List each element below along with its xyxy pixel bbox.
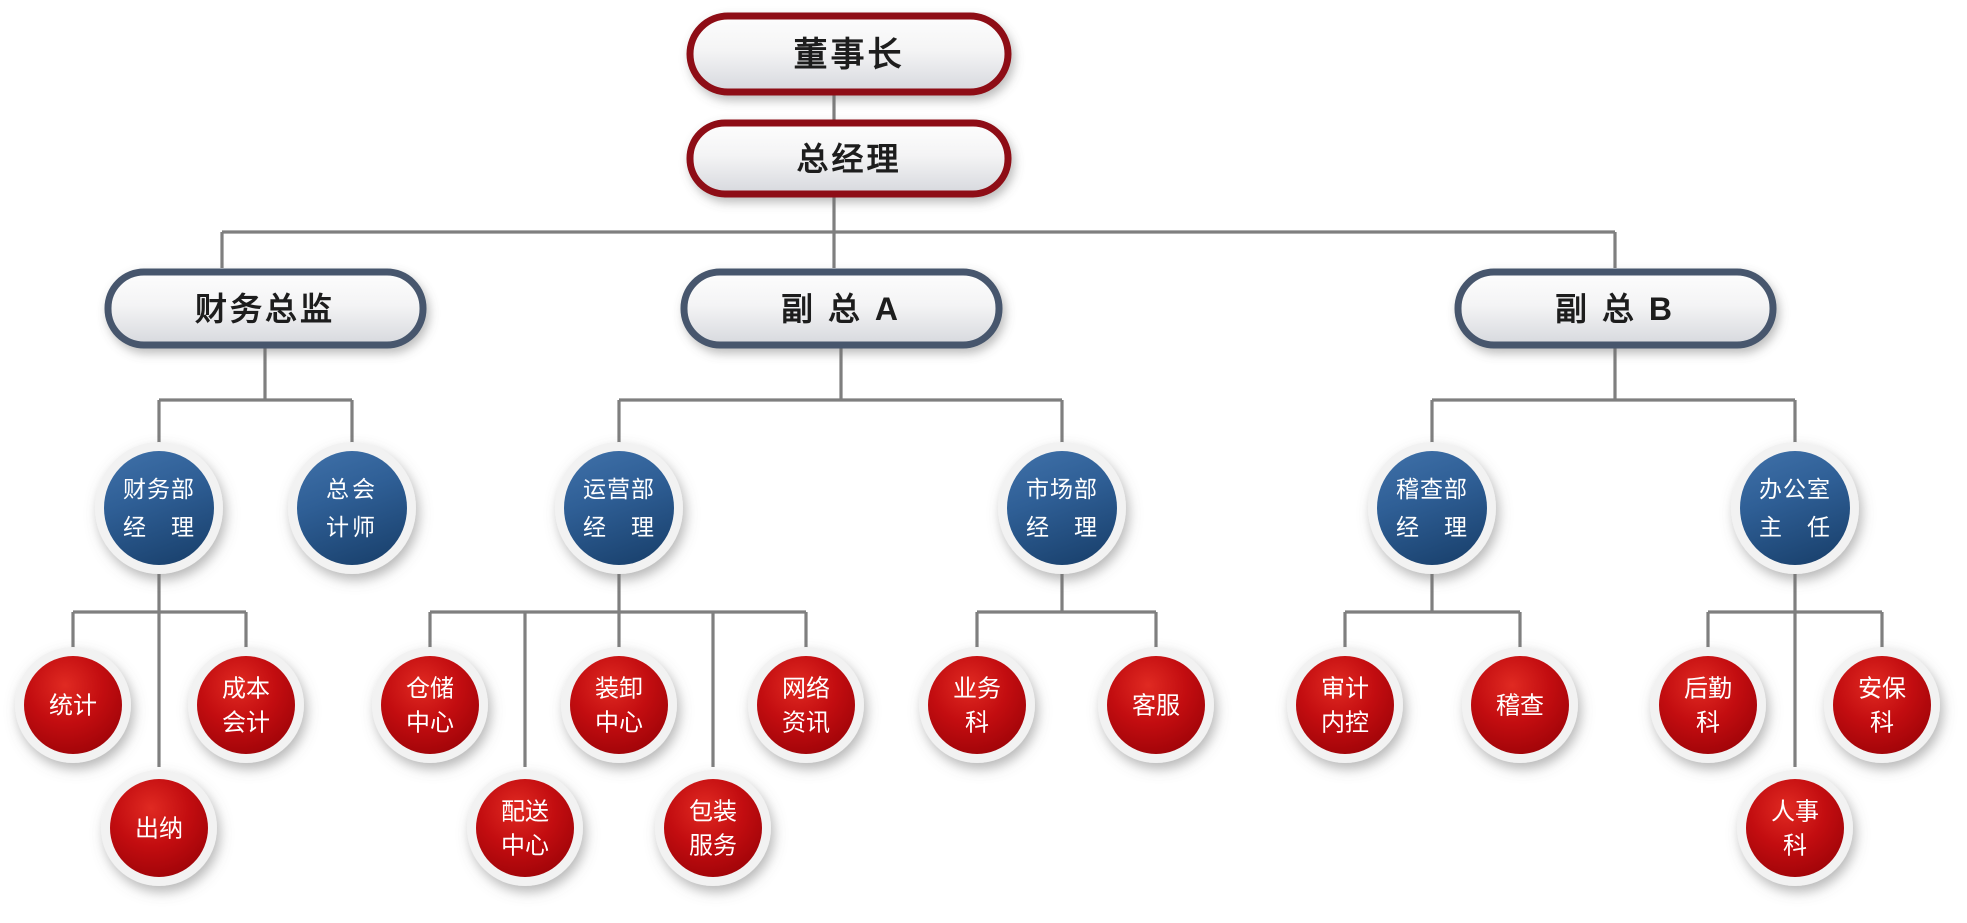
office-director-label-line1: 办公室 bbox=[1759, 476, 1831, 502]
audit-internal-control-label-line2: 内控 bbox=[1321, 710, 1369, 737]
org-chart-svg: 董事长 总经理 财务总监 副 总 A 副 总 B 财务部 经 理 bbox=[0, 0, 1967, 923]
logistics-section-label-line1: 后勤 bbox=[1684, 676, 1732, 703]
security-section-label-line2: 科 bbox=[1870, 710, 1894, 737]
distribution-center-label-line2: 中心 bbox=[501, 833, 549, 860]
vp-b-label: 副 总 B bbox=[1555, 291, 1675, 327]
node-hr-section[interactable]: 人事 科 bbox=[1737, 770, 1853, 886]
statistics-label-line1: 统计 bbox=[49, 693, 97, 720]
hr-section-label-line1: 人事 bbox=[1771, 799, 1819, 826]
network-info-label-line2: 资讯 bbox=[782, 710, 830, 737]
marketing-mgr-label-line2: 经 理 bbox=[1026, 514, 1098, 540]
node-cashier[interactable]: 出纳 bbox=[101, 770, 217, 886]
operations-mgr-shape[interactable] bbox=[564, 451, 674, 565]
node-inspection[interactable]: 稽查 bbox=[1462, 647, 1578, 763]
general-manager-label: 总经理 bbox=[796, 141, 901, 177]
cost-accounting-shape[interactable] bbox=[197, 656, 295, 754]
cashier-label-line1: 出纳 bbox=[135, 816, 183, 843]
logistics-section-label-line2: 科 bbox=[1696, 710, 1720, 737]
audit-mgr-label-line2: 经 理 bbox=[1396, 514, 1468, 540]
node-business-section[interactable]: 业务 科 bbox=[919, 647, 1035, 763]
security-section-shape[interactable] bbox=[1833, 656, 1931, 754]
loading-center-shape[interactable] bbox=[570, 656, 668, 754]
inspection-label-line1: 稽查 bbox=[1496, 693, 1544, 720]
org-chart-canvas: 董事长 总经理 财务总监 副 总 A 副 总 B 财务部 经 理 bbox=[0, 0, 1967, 923]
logistics-section-shape[interactable] bbox=[1659, 656, 1757, 754]
marketing-mgr-shape[interactable] bbox=[1007, 451, 1117, 565]
node-distribution-center[interactable]: 配送 中心 bbox=[467, 770, 583, 886]
office-director-shape[interactable] bbox=[1740, 451, 1850, 565]
marketing-mgr-label-line1: 市场部 bbox=[1026, 476, 1098, 502]
operations-mgr-label-line2: 经 理 bbox=[583, 514, 655, 540]
node-office-director[interactable]: 办公室 主 任 bbox=[1731, 442, 1859, 574]
cost-accounting-label-line2: 会计 bbox=[222, 710, 270, 737]
security-section-label-line1: 安保 bbox=[1858, 676, 1906, 703]
node-finance-mgr[interactable]: 财务部 经 理 bbox=[95, 442, 223, 574]
loading-center-label-line1: 装卸 bbox=[595, 676, 643, 703]
distribution-center-shape[interactable] bbox=[476, 779, 574, 877]
node-packaging-service[interactable]: 包装 服务 bbox=[655, 770, 771, 886]
finance-mgr-label-line2: 经 理 bbox=[123, 514, 195, 540]
node-cost-accounting[interactable]: 成本 会计 bbox=[188, 647, 304, 763]
node-cfo[interactable]: 财务总监 bbox=[108, 272, 423, 345]
audit-internal-control-label-line1: 审计 bbox=[1321, 676, 1369, 703]
warehouse-center-shape[interactable] bbox=[381, 656, 479, 754]
operations-mgr-label-line1: 运营部 bbox=[583, 476, 655, 502]
node-audit-internal-control[interactable]: 审计 内控 bbox=[1287, 647, 1403, 763]
node-vp-b[interactable]: 副 总 B bbox=[1458, 272, 1773, 345]
node-warehouse-center[interactable]: 仓储 中心 bbox=[372, 647, 488, 763]
hr-section-label-line2: 科 bbox=[1783, 833, 1807, 860]
business-section-shape[interactable] bbox=[928, 656, 1026, 754]
packaging-service-label-line1: 包装 bbox=[689, 799, 737, 826]
node-audit-mgr[interactable]: 稽查部 经 理 bbox=[1368, 442, 1496, 574]
audit-internal-control-shape[interactable] bbox=[1296, 656, 1394, 754]
chairman-label: 董事长 bbox=[794, 36, 905, 74]
chief-accountant-label-line2: 计师 bbox=[326, 514, 378, 540]
warehouse-center-label-line1: 仓储 bbox=[406, 676, 454, 703]
business-section-label-line1: 业务 bbox=[953, 676, 1001, 703]
node-operations-mgr[interactable]: 运营部 经 理 bbox=[555, 442, 683, 574]
business-section-label-line2: 科 bbox=[965, 710, 989, 737]
finance-mgr-shape[interactable] bbox=[104, 451, 214, 565]
node-network-info[interactable]: 网络 资讯 bbox=[748, 647, 864, 763]
node-vp-a[interactable]: 副 总 A bbox=[684, 272, 999, 345]
node-chairman[interactable]: 董事长 bbox=[690, 16, 1008, 92]
hr-section-shape[interactable] bbox=[1746, 779, 1844, 877]
node-marketing-mgr[interactable]: 市场部 经 理 bbox=[998, 442, 1126, 574]
node-chief-accountant[interactable]: 总会 计师 bbox=[288, 442, 416, 574]
distribution-center-label-line1: 配送 bbox=[501, 799, 549, 826]
node-statistics[interactable]: 统计 bbox=[15, 647, 131, 763]
packaging-service-shape[interactable] bbox=[664, 779, 762, 877]
cost-accounting-label-line1: 成本 bbox=[222, 676, 270, 703]
node-loading-center[interactable]: 装卸 中心 bbox=[561, 647, 677, 763]
node-customer-service[interactable]: 客服 bbox=[1098, 647, 1214, 763]
node-general-manager[interactable]: 总经理 bbox=[690, 123, 1008, 194]
network-info-shape[interactable] bbox=[757, 656, 855, 754]
customer-service-label-line1: 客服 bbox=[1132, 693, 1180, 720]
chief-accountant-label-line1: 总会 bbox=[326, 476, 378, 502]
network-info-label-line1: 网络 bbox=[782, 676, 830, 703]
finance-mgr-label-line1: 财务部 bbox=[123, 476, 195, 502]
warehouse-center-label-line2: 中心 bbox=[406, 710, 454, 737]
loading-center-label-line2: 中心 bbox=[595, 710, 643, 737]
audit-mgr-shape[interactable] bbox=[1377, 451, 1487, 565]
chief-accountant-shape[interactable] bbox=[297, 451, 407, 565]
vp-a-label: 副 总 A bbox=[781, 291, 901, 327]
node-logistics-section[interactable]: 后勤 科 bbox=[1650, 647, 1766, 763]
packaging-service-label-line2: 服务 bbox=[689, 833, 737, 860]
node-security-section[interactable]: 安保 科 bbox=[1824, 647, 1940, 763]
audit-mgr-label-line1: 稽查部 bbox=[1396, 476, 1468, 502]
cfo-label: 财务总监 bbox=[195, 291, 335, 327]
office-director-label-line2: 主 任 bbox=[1759, 514, 1831, 540]
